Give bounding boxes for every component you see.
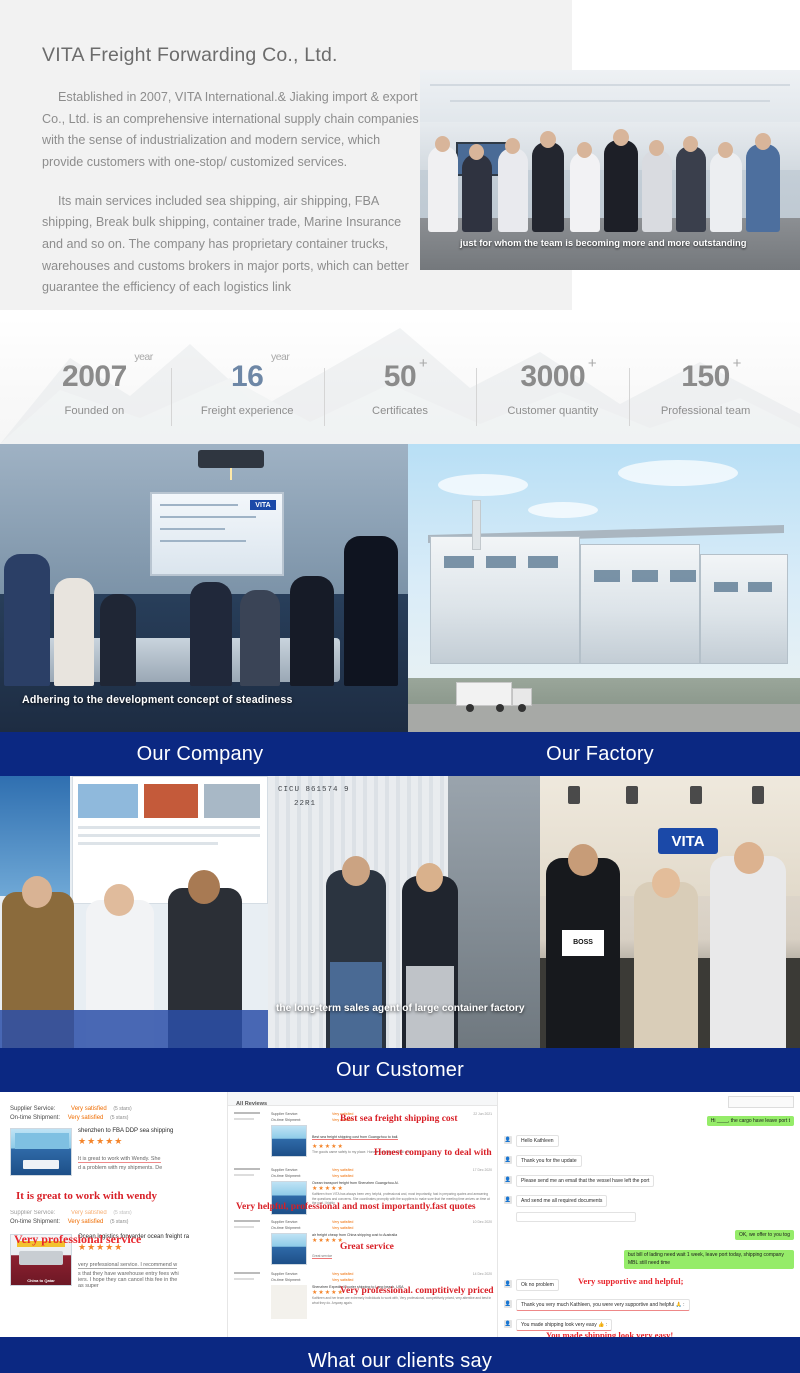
ontime-label: On-time Shipment: (10, 1219, 60, 1225)
ceiling-line (450, 100, 770, 102)
spotlight-icon (752, 786, 764, 804)
customer-head (22, 876, 52, 908)
chat-annotation-supportive: Very supportive and helpful; (578, 1276, 683, 1286)
stat-label: Certificates (324, 405, 477, 417)
review-annotation-1: It is great to work with wendy (16, 1190, 157, 1202)
review-row-inner: Supplier Service: On-time Shipment: Very… (234, 1168, 492, 1178)
review-body-line: It is great to work with Wendy. She (78, 1156, 161, 1163)
customer-head (342, 856, 370, 886)
review-annotation-competitive: Very professional. comptitively priced (340, 1286, 494, 1296)
stat-item-team: 150 + Professional team (629, 354, 782, 417)
company-profile-page: VITA Freight Forwarding Co., Ltd. Establ… (0, 0, 800, 1373)
stat-value: 2007 (62, 360, 127, 393)
chat-message-outgoing: OK, we offer to you tog (735, 1230, 794, 1240)
review-row-inner: Supplier Service: On-time Shipment: Very… (234, 1272, 492, 1282)
presentation-screen: VITA (150, 492, 284, 576)
customer-photo-office: VITA BOSS (540, 776, 800, 1048)
reviewer-country (234, 1278, 254, 1280)
stats-section: 2007 year Founded on 16 year Freight exp… (0, 318, 800, 444)
projector-icon (198, 450, 264, 468)
stat-suffix: + (419, 356, 427, 371)
cloud (438, 474, 528, 496)
reviews-column-left: Supplier Service: Very satisfied (5 star… (0, 1092, 228, 1337)
reviewer-name-redacted (234, 1272, 260, 1274)
review-date: 17 Dec 2020 (391, 1168, 492, 1178)
team-photo: just for whom the team is becoming more … (420, 70, 800, 270)
ontime-label: On-time Shipment: (271, 1278, 327, 1282)
reviews-column-chat: Hi ____, the cargo have leave port t 👤 H… (498, 1092, 800, 1337)
ontime-value: Very satisfied (68, 1219, 104, 1225)
screen-text-line (160, 528, 225, 530)
meeting-person (190, 582, 232, 686)
chat-message-outgoing: but bill of lading need wait 1 week, lea… (624, 1250, 794, 1269)
chat-avatar-icon: 👤 (504, 1196, 512, 1204)
poster-image (144, 784, 198, 818)
supplier-service-value: Very satisfied (332, 1168, 386, 1172)
customer-head (104, 884, 134, 916)
review-text-block: shenzhen to FBA DDP sea shipping ★★★★★ I… (78, 1128, 220, 1176)
customer-head (652, 868, 680, 898)
review-thumbnail (271, 1285, 307, 1319)
customer-head (734, 842, 764, 874)
poster-image (204, 784, 260, 818)
photo-person (676, 146, 706, 232)
factory-window (748, 582, 772, 592)
review-annotation-2: Very professional service (14, 1232, 141, 1247)
intro-text-block: VITA Freight Forwarding Co., Ltd. Establ… (0, 0, 420, 299)
photo-person-head (505, 138, 520, 154)
rating-labels: Supplier Service: On-time Shipment: (271, 1272, 327, 1282)
photo-person (746, 144, 780, 232)
review-thumbnail (271, 1125, 307, 1157)
banner-what-clients-say: What our clients say (0, 1337, 800, 1373)
chat-message-incoming: Please send me an email that the vessel … (516, 1175, 654, 1187)
review-date: 14 Dec 2020 (391, 1272, 492, 1282)
photo-person (710, 152, 742, 232)
supplier-service-value: Very satisfied (71, 1210, 107, 1216)
stat-number: 3000 + (520, 362, 585, 392)
team-photo-caption: just for whom the team is becoming more … (460, 237, 780, 248)
stat-item-founded: 2007 year Founded on (18, 354, 171, 417)
reviewer-info (234, 1168, 266, 1178)
ceiling-line (430, 84, 790, 86)
chat-avatar-icon: 👤 (504, 1300, 512, 1308)
intro-paragraph-2: Its main services included sea shipping,… (42, 191, 420, 299)
stat-number: 150 + (681, 362, 730, 392)
customer-photo-exhibition (0, 776, 268, 1048)
screen-text-line (160, 516, 256, 518)
company-factory-row: VITA Adhering to the development concept… (0, 444, 800, 732)
reviews-section: Supplier Service: Very satisfied (5 star… (0, 1092, 800, 1337)
review-stars: ★★★★★ (78, 1136, 220, 1147)
stat-label: Professional team (629, 405, 782, 417)
photo-person-head (649, 140, 664, 156)
rating-values: Very satisfied Very satisfied (332, 1272, 386, 1282)
review-text-block: air freight cheap from China shipping co… (312, 1233, 492, 1265)
customer-photo-caption: the long-term sales agent of large conta… (276, 1003, 525, 1014)
review-rating-row: On-time Shipment: Very satisfied (5 star… (10, 1219, 220, 1225)
screen-text-line (160, 504, 238, 506)
poster-text-line (78, 842, 218, 845)
review-body-text: Kathleen and her team are extremely indi… (312, 1296, 492, 1305)
chat-avatar-icon: 👤 (504, 1280, 512, 1288)
photo-person-head (718, 142, 733, 158)
chat-message-incoming-blank (516, 1212, 636, 1222)
cloud (528, 502, 598, 518)
reviewer-country (234, 1118, 254, 1120)
banner-our-customer: Our Customer (0, 1048, 800, 1092)
ontime-label: On-time Shipment: (271, 1118, 327, 1122)
photo-person-head (577, 142, 592, 158)
review-annotation-honest: Honest company to deal with (374, 1148, 492, 1158)
factory-window (670, 570, 696, 582)
chat-annotation-easy: You made shipping look very easy! (546, 1330, 673, 1337)
supplier-service-stars: (5 stars) (113, 1106, 131, 1112)
review-body-line: very prefessional service. I recommend w (78, 1262, 177, 1269)
rating-labels: Supplier Service: On-time Shipment: (271, 1168, 327, 1178)
intro-paragraph-1: Established in 2007, VITA International.… (42, 87, 420, 174)
chat-message-outgoing: Hi ____, the cargo have leave port t (707, 1116, 794, 1126)
customer-person (710, 856, 786, 1048)
all-reviews-header: All Reviews (228, 1092, 498, 1106)
review-body-line: d a problem with my shipments. De (78, 1165, 220, 1171)
review-body-line: as super (78, 1283, 220, 1289)
stat-value: 3000 (520, 360, 585, 393)
review-rating-row: Supplier Service: Very satisfied (5 star… (10, 1106, 220, 1112)
reviewer-info (234, 1272, 266, 1282)
photo-person (532, 142, 564, 232)
chat-avatar-icon: 👤 (504, 1320, 512, 1328)
ship-icon (19, 1251, 63, 1265)
ontime-value: Very satisfied (332, 1278, 386, 1282)
supplier-service-stars: (5 stars) (113, 1210, 131, 1216)
screen-text-line (160, 540, 246, 542)
stat-suffix: + (733, 356, 741, 371)
ontime-value: Very satisfied (68, 1115, 104, 1121)
photo-person-head (469, 144, 484, 160)
reviewer-name-redacted (234, 1168, 260, 1170)
world-map-icon (15, 1133, 69, 1149)
photo-person (498, 148, 528, 232)
photo-person-head (755, 133, 771, 150)
spotlight-icon (690, 786, 702, 804)
factory-window (714, 582, 738, 592)
stat-label: Freight experience (171, 405, 324, 417)
customer-photo-row: CICU 861574 9 22R1 the long-term sales a… (0, 776, 800, 1048)
review-thumbnail (271, 1233, 307, 1265)
review-stars: ★★★★★ (312, 1185, 492, 1192)
ontime-value: Very satisfied (332, 1226, 386, 1230)
review-rating-row: Supplier Service: Very satisfied (5 star… (10, 1210, 220, 1216)
ontime-label: On-time Shipment: (10, 1115, 60, 1121)
factory-building-mid (580, 544, 700, 664)
stat-suffix: year (271, 352, 289, 363)
review-card-1: Supplier Service: Very satisfied (5 star… (10, 1106, 220, 1176)
review-body-text: Great service (312, 1254, 332, 1259)
factory-chimney (472, 500, 481, 550)
photo-person-head (435, 136, 450, 152)
supplier-service-label: Supplier Service: (271, 1272, 327, 1276)
ontime-label: On-time Shipment: (271, 1174, 327, 1178)
review-annotation-best-cost: Best sea freight shipping cost (340, 1114, 458, 1124)
chat-message-incoming: And send me all required documents (516, 1195, 607, 1207)
review-thumbnail (10, 1128, 72, 1176)
poster-text-line (78, 834, 260, 837)
company-factory-banner-row: Our Company Our Factory (0, 732, 800, 776)
chat-avatar-icon: 👤 (504, 1156, 512, 1164)
factory-window (444, 556, 474, 568)
stat-item-experience: 16 year Freight experience (171, 354, 324, 417)
photo-person-head (613, 129, 629, 146)
reviewer-info (234, 1112, 266, 1122)
supplier-service-value: Very satisfied (71, 1106, 107, 1112)
reviewer-name-redacted (234, 1112, 260, 1114)
review-date: 10 Dec 2020 (391, 1220, 492, 1230)
stat-item-certificates: 50 + Certificates (324, 354, 477, 417)
truck-trailer (456, 682, 512, 706)
meeting-person (4, 554, 50, 686)
stats-row: 2007 year Founded on 16 year Freight exp… (0, 318, 800, 444)
review-row-inner: Supplier Service: On-time Shipment: Very… (234, 1220, 492, 1230)
factory-window (632, 570, 658, 582)
container-code-line-2: 22R1 (294, 800, 316, 808)
spotlight-icon (626, 786, 638, 804)
reviewer-country (234, 1226, 254, 1228)
review-subject: Best sea freight shipping cost from Guan… (312, 1135, 398, 1140)
stat-label: Customer quantity (476, 405, 629, 417)
ontime-label: On-time Shipment: (271, 1226, 327, 1230)
reviewer-info (234, 1220, 266, 1230)
thumb-label: China to Qatar (11, 1278, 71, 1283)
chat-avatar-icon: 👤 (504, 1176, 512, 1184)
factory-window (528, 556, 558, 568)
factory-window (594, 570, 620, 582)
rating-labels: Supplier Service: On-time Shipment: (271, 1112, 327, 1122)
review-rating-row: On-time Shipment: Very satisfied (5 star… (10, 1115, 220, 1121)
container-code-line-1: CICU 861574 9 (278, 786, 350, 794)
ontime-stars: (5 stars) (110, 1115, 128, 1121)
photo-person (604, 140, 638, 232)
company-photo-caption: Adhering to the development concept of s… (22, 694, 293, 706)
ontime-value: Very satisfied (332, 1174, 386, 1178)
supplier-service-label: Supplier Service: (10, 1210, 55, 1216)
reviews-column-middle: All Reviews Supplier Service: On-time Sh… (228, 1092, 498, 1337)
photo-person-head (540, 131, 556, 148)
truck-wheel (466, 704, 474, 712)
ontime-stars: (5 stars) (110, 1219, 128, 1225)
vita-wall-logo: VITA (658, 828, 718, 854)
stat-item-customers: 3000 + Customer quantity (476, 354, 629, 417)
poster-text-line (78, 826, 260, 829)
factory-photo (408, 444, 800, 732)
truck-wheel (518, 704, 526, 712)
review-annotation-helpful: Very helpful, professional and most impo… (236, 1202, 476, 1212)
page-title: VITA Freight Forwarding Co., Ltd. (42, 44, 420, 67)
supplier-service-label: Supplier Service: (271, 1220, 327, 1224)
banner-our-factory: Our Factory (400, 732, 800, 776)
meeting-person (290, 576, 334, 686)
ship-icon (23, 1160, 59, 1169)
supplier-service-label: Supplier Service: (271, 1168, 327, 1172)
rating-labels: Supplier Service: On-time Shipment: (271, 1220, 327, 1230)
meeting-person (344, 536, 398, 686)
exhibition-floor (0, 1010, 268, 1048)
review-card-2: Supplier Service: Very satisfied (5 star… (10, 1210, 220, 1289)
reviewer-country (234, 1174, 254, 1176)
customer-head (568, 844, 598, 876)
stat-label: Founded on (18, 405, 171, 417)
stat-value: 50 (384, 360, 416, 393)
supplier-service-value: Very satisfied (332, 1272, 386, 1276)
review-subject: shenzhen to FBA DDP sea shipping (78, 1128, 220, 1134)
banner-our-company: Our Company (0, 732, 400, 776)
stat-number: 16 year (231, 362, 263, 392)
reviewer-name-redacted (234, 1220, 260, 1222)
photo-person (570, 152, 600, 232)
vita-logo: VITA (250, 500, 276, 510)
chat-message-incoming: Hello Kathleen (516, 1135, 559, 1147)
review-stars: ★★★★★ (312, 1237, 492, 1244)
supplier-service-label: Supplier Service: (271, 1112, 327, 1116)
photo-person (428, 146, 458, 232)
poster-image (78, 784, 138, 818)
supplier-service-value: Very satisfied (332, 1220, 386, 1224)
chat-message-incoming: Ok no problem (516, 1279, 559, 1291)
photo-person (462, 154, 492, 232)
chat-avatar-icon: 👤 (504, 1136, 512, 1144)
chat-message-incoming: Thank you for the update (516, 1155, 582, 1167)
chat-message-incoming: Thank you very much Kathleen, you were v… (516, 1299, 690, 1311)
stat-number: 2007 year (62, 362, 127, 392)
chat-document-preview (728, 1096, 794, 1108)
factory-building-right (700, 554, 788, 664)
customer-person (634, 882, 698, 1048)
spotlight-icon (568, 786, 580, 804)
rating-values: Very satisfied Very satisfied (332, 1168, 386, 1178)
rating-values: Very satisfied Very satisfied (332, 1220, 386, 1230)
projector-beam (230, 468, 232, 480)
stat-suffix: + (588, 356, 596, 371)
supplier-service-label: Supplier Service: (10, 1106, 55, 1112)
customer-head (416, 863, 443, 892)
photo-person (642, 150, 672, 232)
factory-window (486, 556, 516, 568)
meeting-person (54, 578, 94, 686)
stat-suffix: year (134, 352, 152, 363)
customer-head (188, 870, 220, 904)
review-annotation-great-service: Great service (340, 1242, 394, 1252)
tshirt-print: BOSS (562, 930, 604, 956)
meeting-person (100, 594, 136, 686)
cloud (618, 460, 738, 486)
stat-value: 150 (681, 360, 730, 393)
review-body: shenzhen to FBA DDP sea shipping ★★★★★ I… (10, 1128, 220, 1176)
customer-photo-container: CICU 861574 9 22R1 the long-term sales a… (268, 776, 540, 1048)
stat-value: 16 (231, 360, 263, 393)
truck-wheel (496, 704, 504, 712)
photo-person-head (683, 136, 698, 152)
stat-number: 50 + (384, 362, 416, 392)
company-photo: VITA Adhering to the development concept… (0, 444, 408, 732)
all-reviews-label: All Reviews (236, 1097, 267, 1111)
intro-section: VITA Freight Forwarding Co., Ltd. Establ… (0, 0, 800, 318)
meeting-person (240, 590, 280, 686)
